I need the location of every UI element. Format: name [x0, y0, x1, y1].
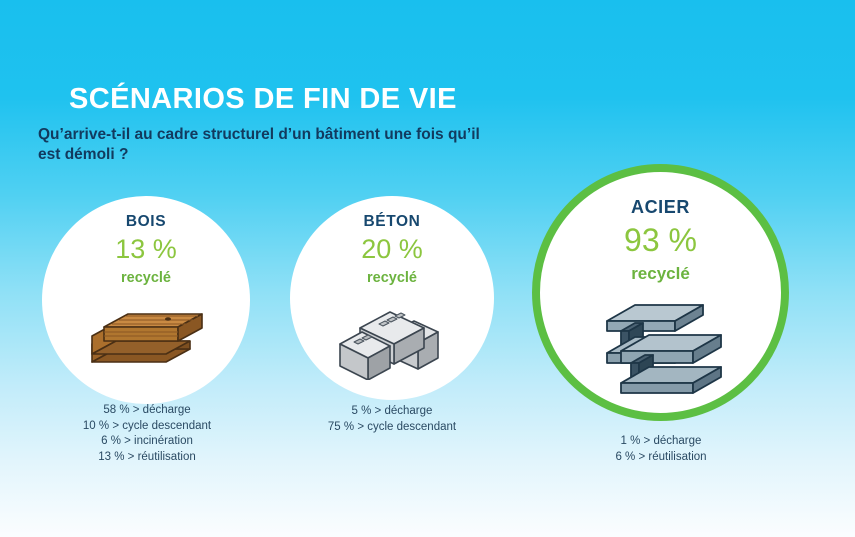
stat-item: 1 % > décharge — [578, 434, 744, 450]
concrete-blocks-icon — [332, 298, 452, 385]
infographic-canvas: SCÉNARIOS DE FIN DE VIE Qu’arrive-t-il a… — [0, 0, 855, 537]
wood-stack-icon — [82, 300, 210, 385]
recycled-label-beton: recyclé — [290, 270, 494, 286]
page-subtitle: Qu’arrive-t-il au cadre structurel d’un … — [38, 125, 493, 165]
recycled-percent-beton: 20 % — [290, 234, 494, 265]
stat-item: 13 % > réutilisation — [56, 450, 238, 466]
stat-item: 75 % > cycle descendant — [300, 420, 484, 436]
stats-list-beton: 5 % > décharge 75 % > cycle descendant — [300, 404, 484, 435]
stat-item: 6 % > réutilisation — [578, 450, 744, 466]
material-name-bois: BOIS — [42, 213, 250, 231]
icon-holder-bois — [42, 300, 250, 385]
recycled-percent-acier: 93 % — [532, 222, 789, 259]
header: SCÉNARIOS DE FIN DE VIE Qu’arrive-t-il a… — [38, 82, 518, 165]
stat-item: 10 % > cycle descendant — [56, 419, 238, 435]
icon-holder-acier — [532, 290, 789, 402]
material-name-acier: ACIER — [532, 197, 789, 218]
stat-item: 58 % > décharge — [56, 403, 238, 419]
stat-item: 5 % > décharge — [300, 404, 484, 420]
recycled-label-acier: recyclé — [532, 264, 789, 284]
stat-item: 6 % > incinération — [56, 434, 238, 450]
recycled-percent-bois: 13 % — [42, 234, 250, 265]
stats-list-acier: 1 % > décharge 6 % > réutilisation — [578, 434, 744, 465]
recycled-label-bois: recyclé — [42, 270, 250, 286]
page-title: SCÉNARIOS DE FIN DE VIE — [38, 82, 518, 116]
stats-list-bois: 58 % > décharge 10 % > cycle descendant … — [56, 403, 238, 465]
steel-beams-icon — [591, 291, 731, 402]
icon-holder-beton — [290, 300, 494, 385]
material-name-beton: BÉTON — [290, 213, 494, 231]
